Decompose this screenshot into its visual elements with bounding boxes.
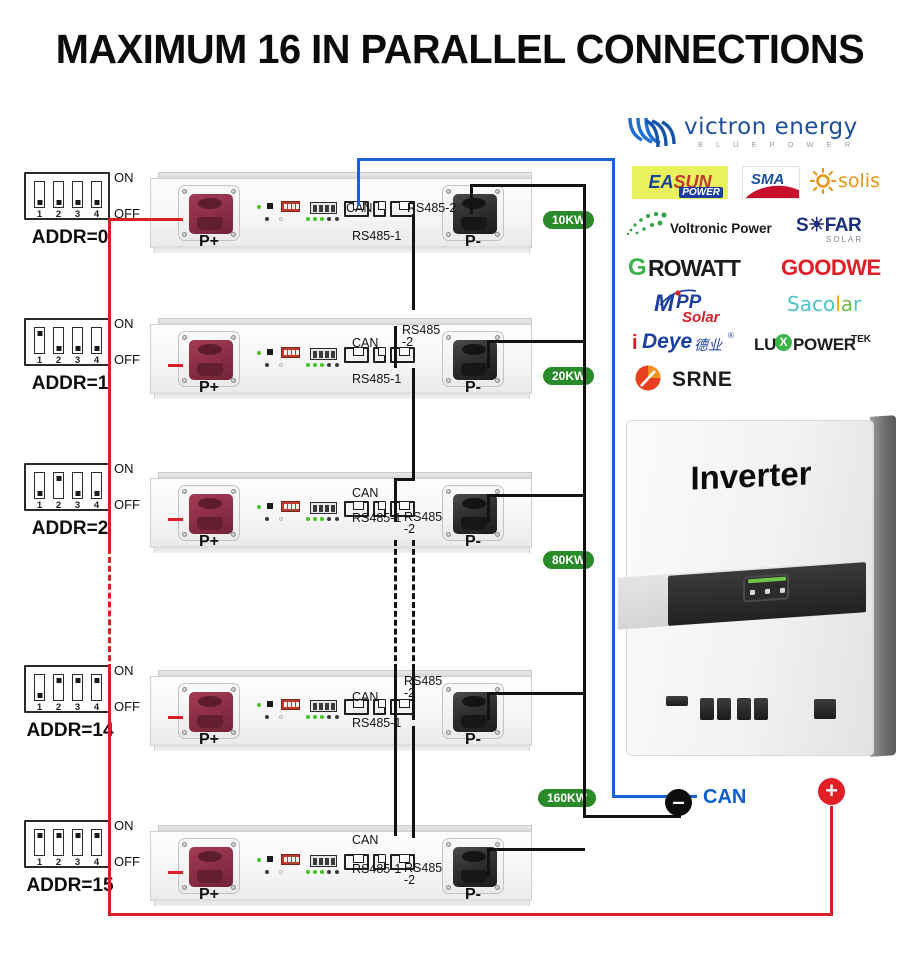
dip-on-label: ON (114, 461, 134, 476)
display-indicator-1 (750, 590, 755, 595)
indicator-square (267, 701, 273, 707)
dip-switch-4[interactable] (91, 472, 102, 499)
module-face: P+ P- (150, 478, 532, 548)
dip-number-1: 1 (34, 209, 45, 220)
module-dip-switch[interactable] (281, 501, 300, 512)
inverter-connector-dc-1[interactable] (700, 698, 714, 720)
dip-number-3: 3 (72, 209, 83, 220)
wire-negative-m5-top (487, 848, 585, 851)
terminal-connector-block[interactable] (310, 700, 337, 712)
wire-rs485-m3-link (394, 478, 415, 481)
led-dot-7 (335, 517, 339, 521)
module-dip-switch[interactable] (281, 699, 300, 710)
can-port-label: CAN (352, 833, 378, 847)
led-dot-2 (279, 715, 283, 719)
negative-terminal[interactable] (453, 340, 497, 380)
indicator-square (267, 503, 273, 509)
led-dot-7 (335, 217, 339, 221)
wire-negative-m2 (487, 340, 490, 368)
dip-switch-3[interactable] (72, 327, 83, 354)
lux-x-icon: X (775, 334, 792, 351)
led-dot-4 (313, 217, 317, 221)
led-dot-2 (279, 363, 283, 367)
led-green (257, 703, 261, 707)
dip-number-1: 1 (34, 500, 45, 511)
led-dot-5 (320, 363, 324, 367)
dip-switch-2[interactable] (53, 181, 64, 208)
dip-number-3: 3 (72, 355, 83, 366)
led-dot-6 (327, 217, 331, 221)
dip-number-4: 4 (91, 500, 102, 511)
module-bottom-edge (154, 392, 530, 399)
led-dot-1 (265, 870, 269, 874)
dip-off-label: OFF (114, 699, 140, 714)
victron-logo-icon (626, 114, 678, 152)
indicator-square (267, 349, 273, 355)
battery-module-2[interactable]: P+ P- (150, 318, 532, 400)
module-dip-switch[interactable] (281, 854, 300, 865)
dip-on-label: ON (114, 316, 134, 331)
wire-positive-bus-dashed (108, 548, 111, 670)
sacolar-wordmark: Sacolar (787, 292, 861, 316)
inverter-label: Inverter (627, 452, 875, 501)
wire-rs485-m4-riser (394, 668, 397, 726)
module-dip-switch[interactable] (281, 201, 300, 212)
dip-switch-2[interactable] (53, 829, 64, 856)
wire-rs485-m2-drop (412, 368, 415, 478)
can-bus-label: CAN (703, 786, 746, 809)
brand-sacolar: Sacolar (787, 292, 861, 316)
dip-off-label: OFF (114, 497, 140, 512)
dip-address-label: ADDR=15 (10, 875, 130, 897)
dip-number-3: 3 (72, 500, 83, 511)
led-dot-1 (265, 217, 269, 221)
indicator-square (267, 203, 273, 209)
dip-on-label: ON (114, 170, 134, 185)
wire-rs485-m5-drop (412, 726, 415, 838)
dip-number-2: 2 (53, 209, 64, 220)
led-dot-7 (335, 870, 339, 874)
module-face: P+ P- (150, 676, 532, 746)
dip-switch-body: 1 2 3 4 (24, 318, 110, 366)
module-bottom-edge (154, 744, 530, 751)
wire-negative-m1 (470, 184, 473, 214)
led-dot-2 (279, 517, 283, 521)
diagram-canvas: MAXIMUM 16 IN PARALLEL CONNECTIONS 1 2 3… (0, 0, 920, 960)
deye-registered: ® (728, 331, 734, 340)
led-dot-3 (306, 517, 310, 521)
dip-on-label: ON (114, 818, 134, 833)
wire-can-m1-drop (357, 158, 360, 206)
dip-switch-body: 1 2 3 4 (24, 172, 110, 220)
led-dot-6 (327, 363, 331, 367)
dip-number-4: 4 (91, 209, 102, 220)
mpp-arc-icon (658, 288, 698, 308)
page-title: MAXIMUM 16 IN PARALLEL CONNECTIONS (14, 26, 906, 73)
negative-terminal[interactable] (453, 194, 497, 234)
led-dot-1 (265, 715, 269, 719)
led-dot-4 (313, 715, 317, 719)
rs485-2-port-label: RS485 -2 (404, 511, 438, 535)
battery-module-5[interactable]: P+ P- (150, 825, 532, 907)
led-dot-4 (313, 870, 317, 874)
led-dot-7 (335, 715, 339, 719)
module-bottom-edge (154, 899, 530, 906)
dip-switch-1[interactable] (34, 327, 45, 354)
voltronic-dots-icon (626, 212, 668, 238)
goodwe-wordmark: GOODWE (781, 255, 881, 281)
wire-positive-m1 (108, 218, 183, 221)
wire-positive-to-inverter (108, 913, 833, 916)
sma-logo: SMA (742, 166, 800, 199)
growatt-wordmark: ROWATT (648, 255, 740, 282)
dip-number-1: 1 (34, 702, 45, 713)
lux-text-tek: TEK (851, 334, 871, 345)
module-bottom-edge (154, 246, 530, 253)
led-dot-4 (313, 363, 317, 367)
terminal-connector-block[interactable] (310, 502, 337, 514)
dip-switch-body: 1 2 3 4 (24, 665, 110, 713)
led-green (257, 505, 261, 509)
solis-sun-icon (810, 168, 836, 194)
display-status-bar (748, 577, 786, 584)
positive-terminal[interactable] (189, 847, 233, 887)
deye-wordmark: Deye (642, 330, 692, 354)
rs485-2-port-label: RS485-2 (407, 201, 456, 215)
dip-number-1: 1 (34, 355, 45, 366)
dip-address-label: ADDR=0 (10, 227, 130, 249)
dip-switch-1[interactable] (34, 829, 45, 856)
compatible-brands-panel: victron energy B L U E P O W E R EA SUN … (624, 112, 916, 397)
lux-text-c: POWER (793, 335, 856, 355)
power-badge-160kw: 160KW (538, 789, 596, 807)
dip-switch-1[interactable] (34, 472, 45, 499)
rs485-1-port-label: RS485-1 (352, 229, 401, 243)
wire-negative-m3-top (487, 494, 585, 497)
dip-number-4: 4 (91, 857, 102, 868)
wire-negative-m2-top (487, 340, 585, 343)
terminal-connector-block[interactable] (310, 348, 337, 360)
dip-switch-4[interactable] (91, 829, 102, 856)
can-port-label: CAN (352, 486, 378, 500)
power-badge-20kw: 20KW (543, 367, 594, 385)
wire-rs485-m5-riser (394, 726, 397, 836)
positive-pole-icon: + (818, 778, 845, 805)
dip-number-3: 3 (72, 857, 83, 868)
module-bottom-edge (154, 546, 530, 553)
dip-switch-3[interactable] (72, 472, 83, 499)
inverter-connector-comm[interactable] (666, 696, 688, 706)
wire-negative-bus (583, 184, 586, 818)
deye-initial: i (632, 332, 638, 355)
wire-positive-m2 (168, 364, 183, 367)
wire-positive-m5 (168, 871, 183, 874)
deye-chinese: 德业 (694, 335, 722, 355)
wire-negative-m4 (487, 692, 490, 720)
sofar-wordmark: S☀FAR (796, 214, 861, 237)
negative-terminal[interactable] (453, 847, 497, 887)
led-dot-4 (313, 517, 317, 521)
mpp-solar-text: Solar (682, 309, 720, 326)
dip-address-label: ADDR=2 (10, 518, 130, 540)
dip-off-label: OFF (114, 854, 140, 869)
victron-tagline: B L U E P O W E R (698, 140, 856, 149)
dip-switch-2[interactable] (53, 472, 64, 499)
wire-negative-m3 (487, 494, 490, 522)
inverter-connector-dc-4[interactable] (754, 698, 768, 720)
wire-positive-m4 (168, 716, 183, 719)
module-face: P+ P- (150, 324, 532, 394)
inverter-connector-dc-2[interactable] (717, 698, 731, 720)
wire-negative-m1-top (470, 184, 585, 187)
victron-wordmark: victron energy (684, 114, 858, 140)
positive-terminal[interactable] (189, 692, 233, 732)
dip-switch-3[interactable] (72, 181, 83, 208)
display-indicator-3 (780, 588, 785, 593)
rs485-2-port-label: RS485 -2 (402, 324, 436, 348)
lux-text-a: LU (754, 335, 776, 355)
wire-rs485-m4-drop (412, 668, 415, 720)
led-green (257, 205, 261, 209)
wire-rs485-m3-riser (394, 478, 397, 522)
dip-switch-body: 1 2 3 4 (24, 820, 110, 868)
led-green (257, 351, 261, 355)
sma-wordmark: SMA (751, 171, 784, 188)
easun-text-a: EA (648, 172, 673, 193)
led-dot-3 (306, 715, 310, 719)
srne-wordmark: SRNE (672, 368, 732, 392)
positive-terminal[interactable] (189, 494, 233, 534)
power-badge-80kw: 80KW (543, 551, 594, 569)
can-port-label: CAN (352, 690, 378, 704)
led-dot-2 (279, 870, 283, 874)
dip-switch-2[interactable] (53, 327, 64, 354)
inverter-connector-ac[interactable] (814, 699, 836, 719)
wire-rs485-m1-drop (412, 214, 415, 310)
wire-can-bus (612, 158, 615, 798)
led-dot-1 (265, 517, 269, 521)
module-face: P+ P- (150, 831, 532, 901)
wire-negative-m4-top (487, 692, 585, 695)
wire-positive-riser (830, 806, 833, 916)
module-dip-switch[interactable] (281, 347, 300, 358)
dip-switch-1[interactable] (34, 674, 45, 701)
dip-number-4: 4 (91, 702, 102, 713)
dip-on-label: ON (114, 663, 134, 678)
dip-number-2: 2 (53, 857, 64, 868)
wire-negative-m5 (487, 848, 490, 876)
dip-number-2: 2 (53, 355, 64, 366)
dip-switch-3[interactable] (72, 674, 83, 701)
dip-number-3: 3 (72, 702, 83, 713)
led-dot-7 (335, 363, 339, 367)
terminal-connector-block[interactable] (310, 202, 337, 214)
inverter-connector-dc-3[interactable] (737, 698, 751, 720)
dip-number-2: 2 (53, 702, 64, 713)
dip-switch-1[interactable] (34, 181, 45, 208)
dip-switch-2[interactable] (53, 674, 64, 701)
wire-rs485-dashed-right (412, 540, 415, 670)
easun-text-c: POWER (679, 187, 723, 198)
easun-logo: EA SUN POWER (632, 166, 728, 199)
negative-terminal[interactable] (453, 692, 497, 732)
rs485-2-port-label: RS485 -2 (404, 862, 438, 886)
led-dot-5 (320, 715, 324, 719)
inverter-unit[interactable]: Inverter (618, 406, 896, 771)
dip-switch-4[interactable] (91, 327, 102, 354)
solis-wordmark: solis (838, 170, 880, 192)
wire-positive-bus-lower (108, 668, 111, 916)
terminal-connector-block[interactable] (310, 855, 337, 867)
led-dot-1 (265, 363, 269, 367)
wire-can-top (357, 158, 615, 161)
led-dot-3 (306, 363, 310, 367)
led-dot-5 (320, 517, 324, 521)
indicator-square (267, 856, 273, 862)
led-dot-6 (327, 715, 331, 719)
inverter-display[interactable] (743, 573, 789, 602)
dip-switch-3[interactable] (72, 829, 83, 856)
display-indicator-2 (765, 589, 770, 594)
sofar-tagline: SOLAR (826, 235, 863, 244)
wire-positive-bus-upper (108, 218, 111, 550)
power-badge-10kw: 10KW (543, 211, 594, 229)
led-dot-5 (320, 870, 324, 874)
dip-address-label: ADDR=14 (10, 720, 130, 742)
positive-terminal[interactable] (189, 194, 233, 234)
can-port-label: CAN (352, 336, 378, 350)
led-dot-5 (320, 217, 324, 221)
battery-module-3[interactable]: P+ P- (150, 472, 532, 554)
led-dot-6 (327, 870, 331, 874)
dip-switch-body: 1 2 3 4 (24, 463, 110, 511)
srne-logo-icon (634, 364, 662, 392)
dip-number-1: 1 (34, 857, 45, 868)
module-face: P+ P- (150, 178, 532, 248)
battery-module-4[interactable]: P+ P- (150, 670, 532, 752)
wire-negative-to-inverter (583, 815, 680, 818)
rs485-1-port-label: RS485-1 (352, 862, 401, 876)
dip-off-label: OFF (114, 352, 140, 367)
negative-terminal[interactable] (453, 494, 497, 534)
growatt-initial: G (628, 254, 647, 282)
voltronic-wordmark: Voltronic Power (670, 221, 772, 236)
dip-number-2: 2 (53, 500, 64, 511)
aux-port[interactable] (373, 201, 386, 217)
led-dot-3 (306, 217, 310, 221)
led-dot-2 (279, 217, 283, 221)
rs485-1-port-label: RS485-1 (352, 372, 401, 386)
led-green (257, 858, 261, 862)
dip-switch-4[interactable] (91, 181, 102, 208)
wire-rs485-dashed-left (394, 540, 397, 670)
led-dot-6 (327, 517, 331, 521)
dip-number-4: 4 (91, 355, 102, 366)
dip-switch-4[interactable] (91, 674, 102, 701)
negative-pole-icon: – (665, 789, 692, 816)
rs485-2-port-label: RS485 -2 (404, 675, 438, 699)
dip-address-label: ADDR=1 (10, 373, 130, 395)
wire-positive-m3 (168, 518, 183, 521)
wire-rs485-m2-riser (394, 326, 397, 368)
led-dot-3 (306, 870, 310, 874)
positive-terminal[interactable] (189, 340, 233, 380)
